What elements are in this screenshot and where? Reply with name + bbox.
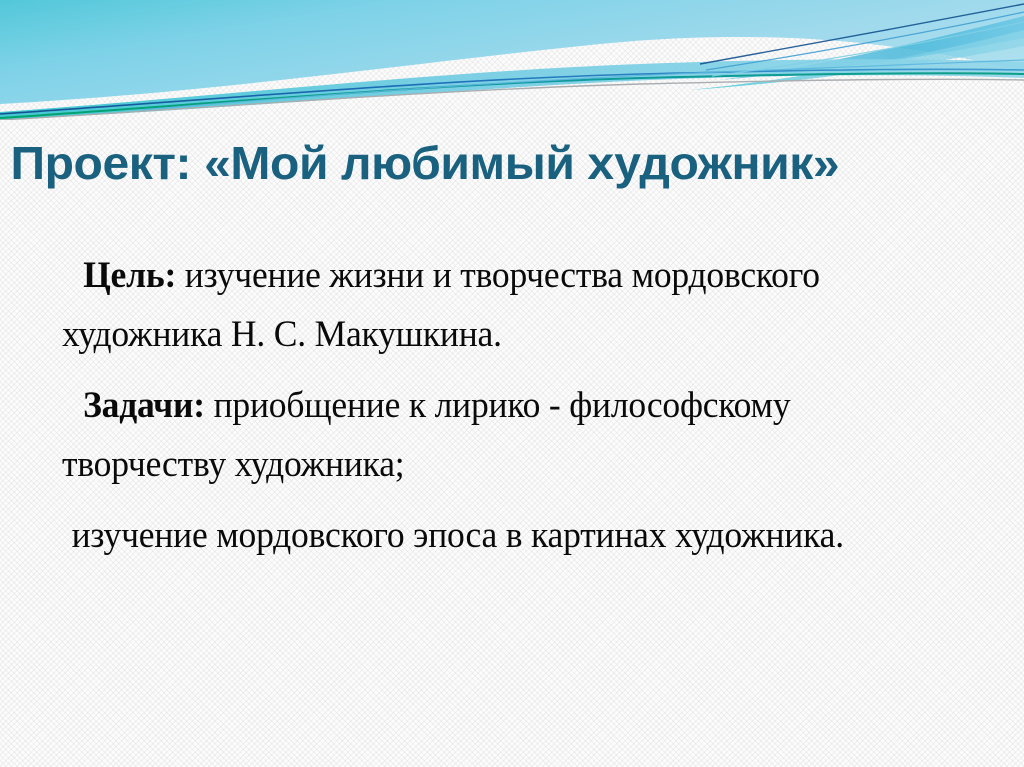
wave-accent-line-lightblue [140,60,1024,110]
wave-accent-line-green [0,73,1024,118]
paragraph-goal-text: изучение жизни и творчества мордовского … [62,255,820,355]
wave-cross-line-darkblue [700,4,1024,64]
wave-band-right-lower [690,30,1024,90]
wave-cross-line-cyan [712,22,1024,76]
presentation-slide: Проект: «Мой любимый художник» Цель: изу… [0,0,1024,767]
paragraph-tasks-lead: Задачи: [83,385,205,426]
title-block: Проект: «Мой любимый художник» [0,134,1024,196]
wave-accent-line-gray [0,79,1024,120]
paragraph-tasks-second: изучение мордовского эпоса в картинах ху… [62,506,945,565]
wave-banner-decoration [0,0,1024,120]
page-title: Проект: «Мой любимый художник» [0,134,1024,192]
body-content: Цель: изучение жизни и творчества мордов… [62,246,982,569]
paragraph-tasks: Задачи: приобщение к лирико - философско… [62,376,945,494]
wave-band-right-upper [720,16,1024,80]
paragraph-tasks-second-text: изучение мордовского эпоса в картинах ху… [72,515,844,556]
wave-band-primary [0,0,1024,104]
wave-banner-svg [0,0,1024,120]
wave-accent-line-blue [0,69,1024,114]
wave-cross-line-blue [706,12,1024,70]
wave-ribbon-lower [0,59,1024,120]
paragraph-goal: Цель: изучение жизни и творчества мордов… [62,246,945,364]
paragraph-goal-lead: Цель: [83,255,176,296]
